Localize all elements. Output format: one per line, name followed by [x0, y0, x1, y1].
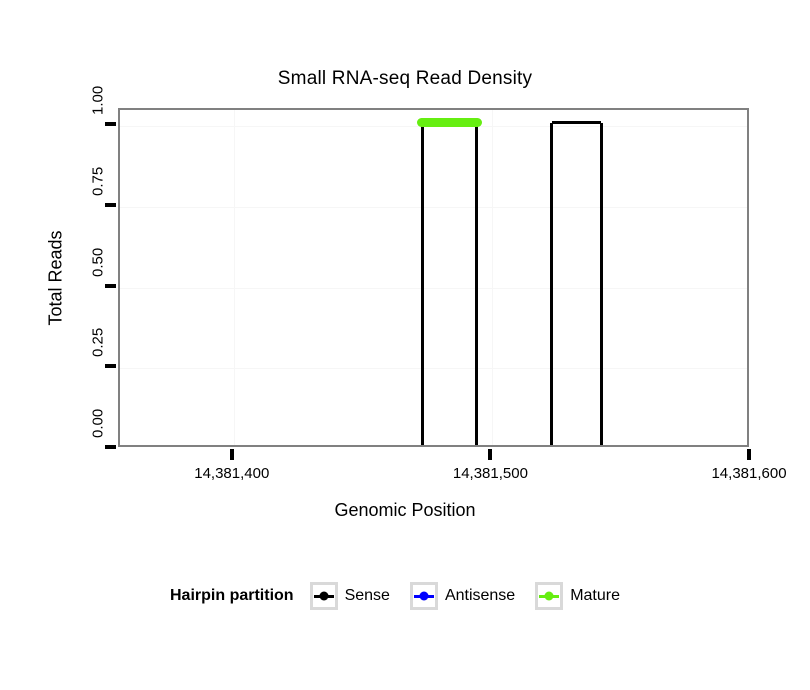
- mature-line-segment: [417, 118, 482, 127]
- legend-key-icon: [535, 582, 563, 610]
- legend-key-dot: [319, 592, 328, 601]
- sense-line-horizontal: [552, 121, 601, 124]
- gridline-vertical: [492, 110, 493, 445]
- gridline-vertical: [234, 110, 235, 445]
- legend-label: Mature: [570, 587, 620, 605]
- gridline-horizontal: [120, 207, 747, 208]
- legend-item-mature[interactable]: Mature: [535, 582, 634, 610]
- gridline-horizontal: [120, 368, 747, 369]
- legend-key-icon: [410, 582, 438, 610]
- chart-title: Small RNA-seq Read Density: [0, 68, 810, 90]
- sense-line-vertical: [475, 123, 478, 445]
- plot-drawing-area: [120, 110, 747, 445]
- x-axis-title: Genomic Position: [0, 500, 810, 521]
- y-tick-mark: [105, 364, 116, 368]
- y-tick-mark: [105, 445, 116, 449]
- y-axis-title-text: Total Reads: [46, 230, 67, 325]
- legend-items: SenseAntisenseMature: [310, 582, 640, 610]
- sense-line-vertical: [421, 123, 424, 445]
- x-tick-label: 14,381,500: [453, 465, 528, 482]
- x-tick-label: 14,381,400: [194, 465, 269, 482]
- y-tick-mark: [105, 203, 116, 207]
- gridline-horizontal: [120, 288, 747, 289]
- y-tick-mark: [105, 284, 116, 288]
- legend-item-sense[interactable]: Sense: [310, 582, 404, 610]
- y-tick-mark: [105, 122, 116, 126]
- sense-line-vertical: [600, 123, 603, 445]
- legend-key-dot: [419, 592, 428, 601]
- legend-label: Sense: [345, 587, 390, 605]
- legend-item-antisense[interactable]: Antisense: [410, 582, 529, 610]
- legend-key-dot: [545, 592, 554, 601]
- x-tick-mark: [747, 449, 751, 460]
- x-tick-label: 14,381,600: [711, 465, 786, 482]
- sense-line-vertical: [550, 123, 553, 445]
- x-tick-mark: [230, 449, 234, 460]
- legend-title: Hairpin partition: [170, 587, 294, 605]
- legend-label: Antisense: [445, 587, 515, 605]
- legend-key-icon: [310, 582, 338, 610]
- legend: Hairpin partition SenseAntisenseMature: [0, 582, 810, 610]
- plot-panel: [118, 108, 749, 447]
- x-tick-mark: [488, 449, 492, 460]
